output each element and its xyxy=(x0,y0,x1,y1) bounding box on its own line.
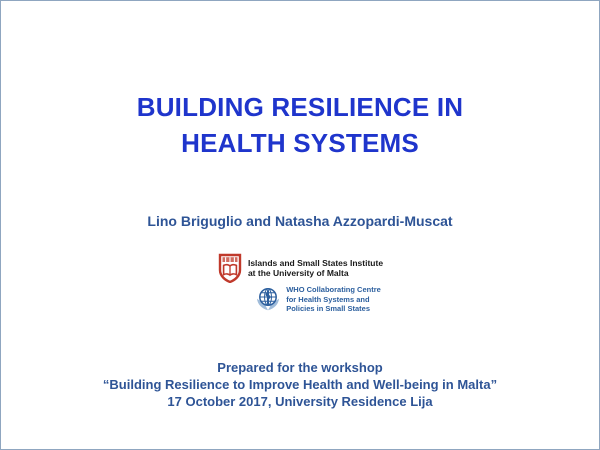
title-line-1: BUILDING RESILIENCE IN xyxy=(1,89,599,125)
who-text-line-2: for Health Systems and xyxy=(286,295,381,305)
slide-title: BUILDING RESILIENCE IN HEALTH SYSTEMS xyxy=(1,89,599,161)
who-logo: WHO Collaborating Centre for Health Syst… xyxy=(255,285,381,314)
issi-text-line-1: Islands and Small States Institute xyxy=(248,258,383,269)
title-line-2: HEALTH SYSTEMS xyxy=(1,125,599,161)
who-text-line-1: WHO Collaborating Centre xyxy=(286,285,381,295)
logo-block: Islands and Small States Institute at th… xyxy=(1,253,599,314)
footer-line-1: Prepared for the workshop xyxy=(1,359,599,376)
who-emblem-icon xyxy=(255,286,281,312)
university-of-malta-crest-icon xyxy=(217,253,243,283)
slide-footer: Prepared for the workshop “Building Resi… xyxy=(1,359,599,410)
issi-text-line-2: at the University of Malta xyxy=(248,268,383,279)
issi-logo: Islands and Small States Institute at th… xyxy=(217,253,383,283)
who-logo-text: WHO Collaborating Centre for Health Syst… xyxy=(286,285,381,314)
footer-line-3: 17 October 2017, University Residence Li… xyxy=(1,393,599,410)
who-text-line-3: Policies in Small States xyxy=(286,304,381,314)
footer-line-2: “Building Resilience to Improve Health a… xyxy=(1,376,599,393)
presentation-slide: BUILDING RESILIENCE IN HEALTH SYSTEMS Li… xyxy=(0,0,600,450)
issi-logo-text: Islands and Small States Institute at th… xyxy=(248,258,383,279)
authors-line: Lino Briguglio and Natasha Azzopardi-Mus… xyxy=(1,212,599,230)
